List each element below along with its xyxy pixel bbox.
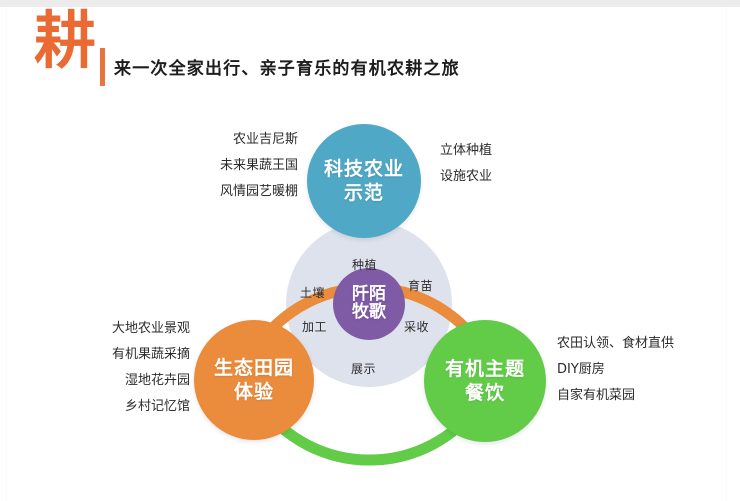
label-line: 立体种植 [440,138,492,164]
stage-label-processing: 加工 [302,318,327,335]
node-organic-themed-dining-label: 有机主题 餐饮 [445,357,525,406]
node-tech-agriculture-demo[interactable]: 科技农业 示范 [307,124,421,238]
stage-label-seedling: 育苗 [408,277,433,294]
node-organic-themed-dining[interactable]: 有机主题 餐饮 [424,320,546,442]
page-root: 耕 来一次全家出行、亲子育乐的有机农耕之旅 科技农业 示范 生态田园 体验 有机… [0,0,740,501]
label-line: DIY厨房 [557,357,674,383]
label-line: 湿地花卉园 [0,368,190,394]
stage-label-display: 展示 [351,360,376,377]
node-eco-farmland-experience[interactable]: 生态田园 体验 [194,320,314,440]
label-line: 大地农业景观 [0,316,190,342]
node-tech-agriculture-demo-label: 科技农业 示范 [324,157,404,206]
stage-label-planting: 种植 [352,256,377,273]
stage-label-soil: 土壤 [300,284,325,301]
node-eco-farmland-experience-label: 生态田园 体验 [214,356,294,405]
label-line: 设施农业 [440,164,492,190]
node-brand-center[interactable]: 阡陌 牧歌 [333,268,405,340]
label-line: 未来果蔬王国 [93,153,298,179]
label-group-bottom-right: 农田认领、食材直供 DIY厨房 自家有机菜园 [557,331,674,409]
label-line: 农业吉尼斯 [93,127,298,153]
label-line: 自家有机菜园 [557,383,674,409]
label-group-top-right: 立体种植 设施农业 [440,138,492,190]
label-group-bottom-left: 大地农业景观 有机果蔬采摘 湿地花卉园 乡村记忆馆 [0,316,190,420]
stage-label-harvest: 采收 [404,318,429,335]
label-line: 风情园艺暖棚 [93,179,298,205]
node-brand-center-label: 阡陌 牧歌 [352,286,386,322]
label-group-top-left: 农业吉尼斯 未来果蔬王国 风情园艺暖棚 [93,127,298,205]
label-line: 农田认领、食材直供 [557,331,674,357]
label-line: 乡村记忆馆 [0,394,190,420]
diagram-arcs-svg [0,0,740,501]
venn-cycle-diagram: 科技农业 示范 生态田园 体验 有机主题 餐饮 阡陌 牧歌 种植 育苗 采收 展… [0,0,740,501]
label-line: 有机果蔬采摘 [0,342,190,368]
